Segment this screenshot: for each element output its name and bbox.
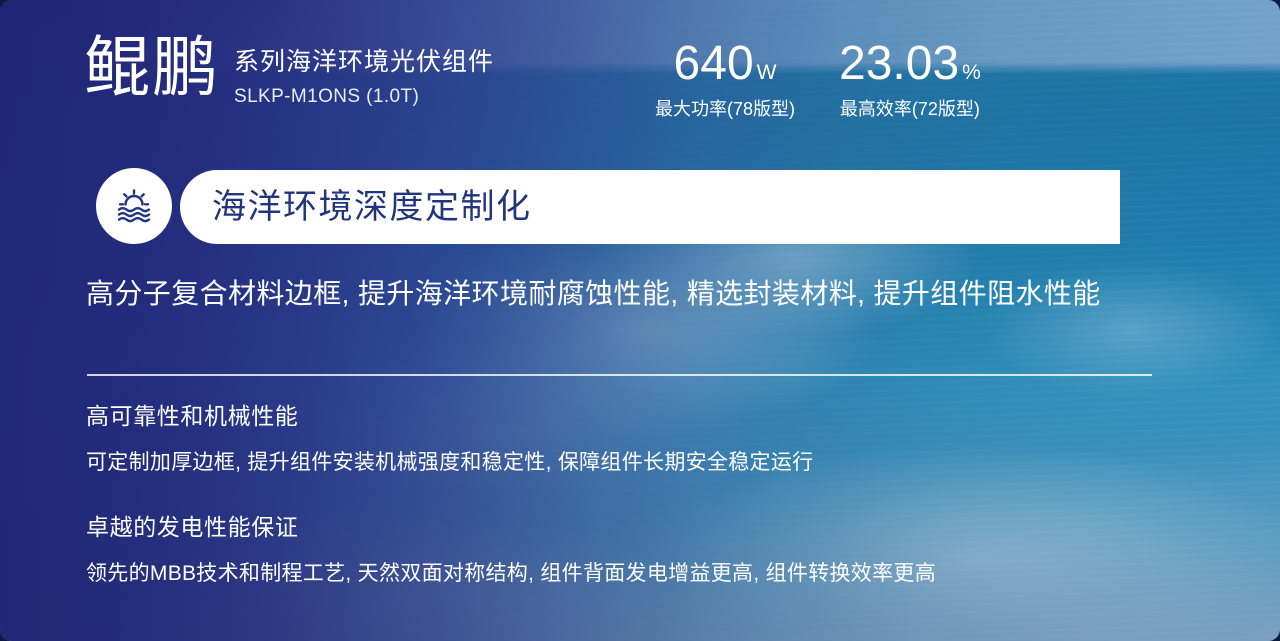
section-divider xyxy=(87,374,1152,376)
stat-value-row: 23.03 % xyxy=(839,36,981,92)
product-banner: 鲲鹏 系列海洋环境光伏组件 SLKP-M1ONS (1.0T) 640 W 最大… xyxy=(0,0,1280,641)
stat-max-efficiency-unit: % xyxy=(962,61,981,85)
section-heading-row: 海洋环境深度定制化 xyxy=(0,168,1280,248)
header-row: 鲲鹏 系列海洋环境光伏组件 SLKP-M1ONS (1.0T) 640 W 最大… xyxy=(0,0,1280,150)
stat-value-row: 640 W xyxy=(674,36,777,92)
stat-max-efficiency: 23.03 % 最高效率(72版型) xyxy=(839,36,981,122)
product-model-number: SLKP-M1ONS (1.0T) xyxy=(234,83,494,111)
stat-max-power-label: 最大功率(78版型) xyxy=(655,96,795,122)
lead-paragraph: 高分子复合材料边框, 提升海洋环境耐腐蚀性能, 精选封装材料, 提升组件阻水性能 xyxy=(86,272,1171,316)
feature-description: 领先的MBB技术和制程工艺, 天然双面对称结构, 组件背面发电增益更高, 组件转… xyxy=(86,558,1186,590)
brand-name: 鲲鹏 xyxy=(84,28,220,106)
feature-item: 高可靠性和机械性能 可定制加厚边框, 提升组件安装机械强度和稳定性, 保障组件长… xyxy=(86,400,1186,479)
section-heading-pill: 海洋环境深度定制化 xyxy=(180,170,1120,244)
feature-title: 高可靠性和机械性能 xyxy=(86,400,1186,432)
stat-max-efficiency-value: 23.03 xyxy=(839,36,959,92)
banner-content: 鲲鹏 系列海洋环境光伏组件 SLKP-M1ONS (1.0T) 640 W 最大… xyxy=(0,0,1280,641)
stat-max-efficiency-label: 最高效率(72版型) xyxy=(840,96,980,122)
product-series-label: 系列海洋环境光伏组件 xyxy=(234,46,494,78)
badge-circle xyxy=(96,168,172,244)
brand-text-column: 系列海洋环境光伏组件 SLKP-M1ONS (1.0T) xyxy=(234,28,494,111)
stat-max-power-unit: W xyxy=(757,61,777,85)
brand-block: 鲲鹏 系列海洋环境光伏组件 SLKP-M1ONS (1.0T) xyxy=(84,28,494,111)
sun-over-waves-icon xyxy=(111,183,157,229)
feature-item: 卓越的发电性能保证 领先的MBB技术和制程工艺, 天然双面对称结构, 组件背面发… xyxy=(86,511,1186,590)
feature-description: 可定制加厚边框, 提升组件安装机械强度和稳定性, 保障组件长期安全稳定运行 xyxy=(86,447,1186,479)
stat-max-power-value: 640 xyxy=(674,36,754,92)
stat-max-power: 640 W 最大功率(78版型) xyxy=(655,36,795,122)
feature-title: 卓越的发电性能保证 xyxy=(86,511,1186,543)
spec-stats-group: 640 W 最大功率(78版型) 23.03 % 最高效率(72版型) xyxy=(655,36,981,122)
section-heading-title: 海洋环境深度定制化 xyxy=(212,185,532,229)
